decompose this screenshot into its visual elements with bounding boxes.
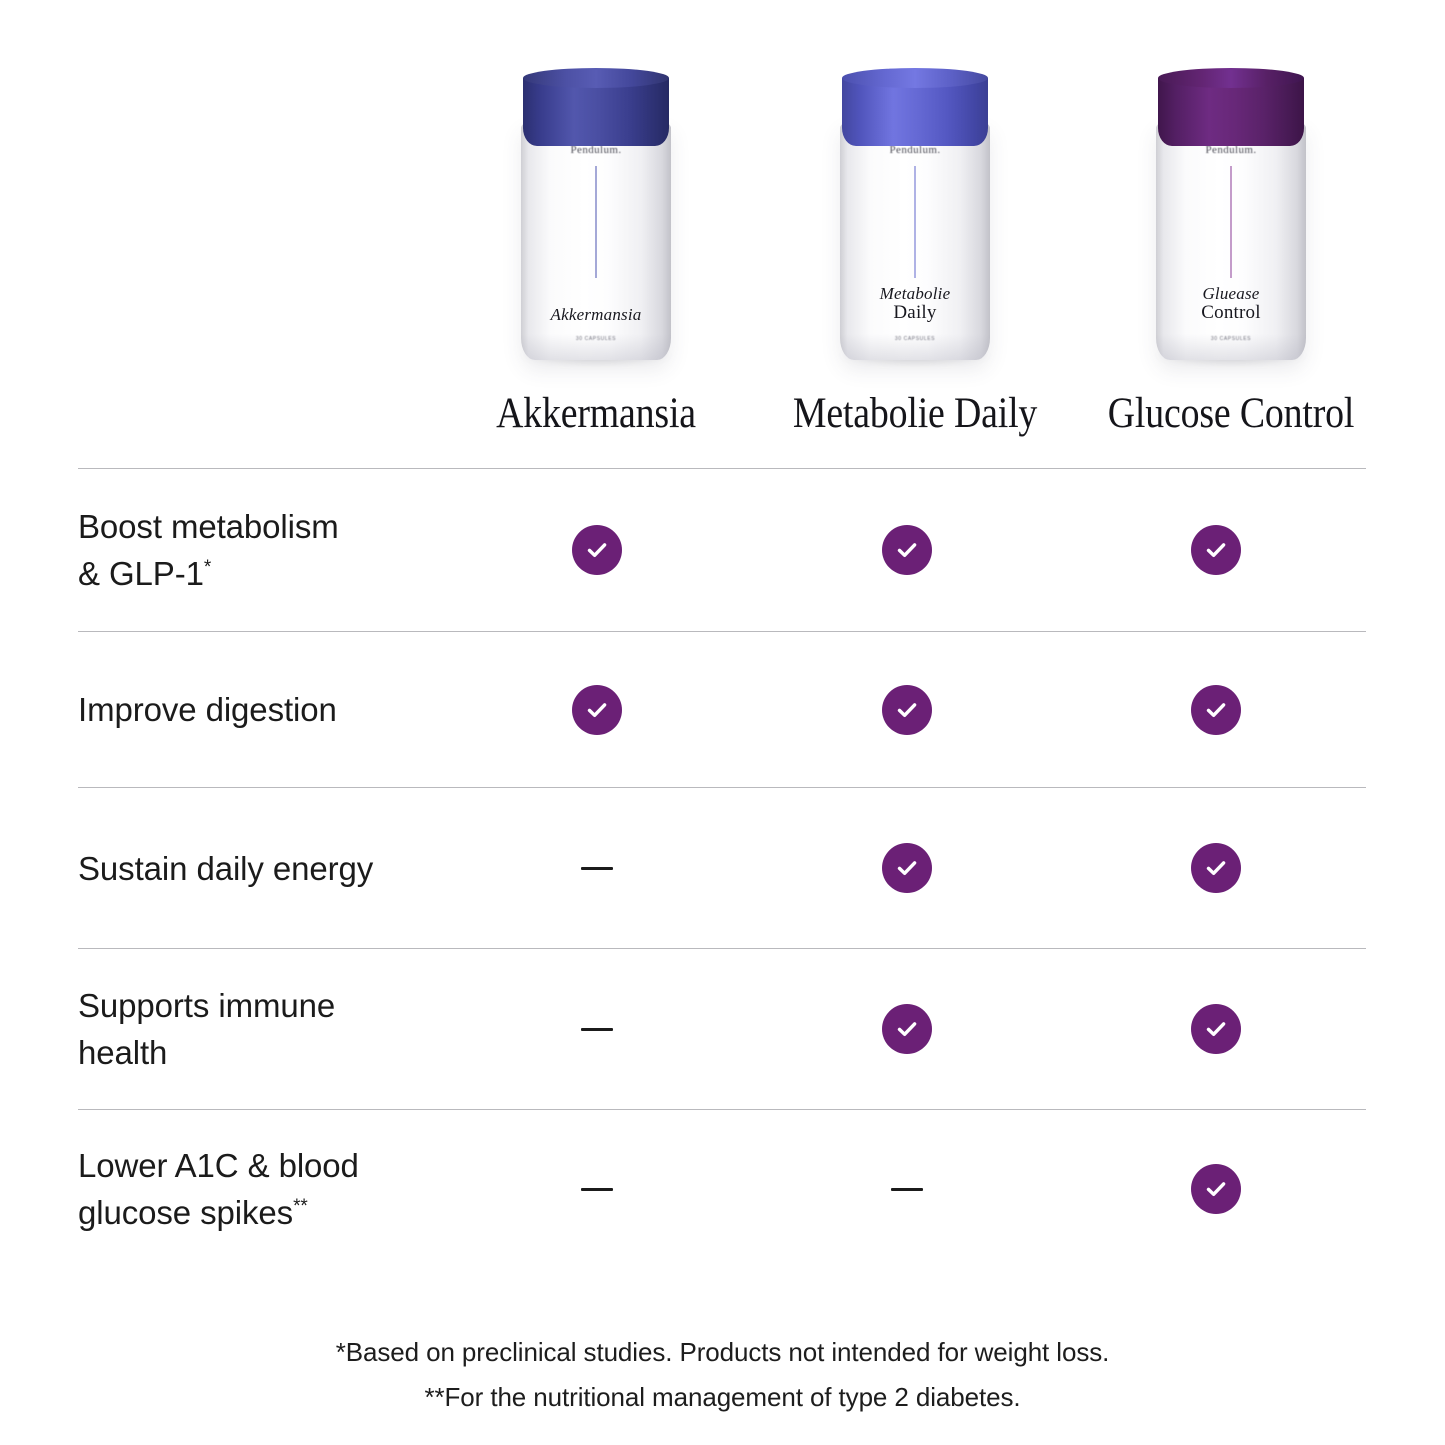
cell-glucose-control (1066, 1164, 1366, 1214)
column-header-akkermansia: Akkermansia (464, 386, 728, 442)
cell-akkermansia (446, 1028, 748, 1031)
row-label-line1: Improve digestion (78, 691, 337, 728)
column-header-metabolic-daily: Metabolie Daily (783, 386, 1047, 442)
row-label-boost-metabolism: Boost metabolism & GLP-1* (78, 503, 446, 597)
row-label-supports-immune-health: Supports immune health (78, 982, 446, 1076)
check-icon (1191, 843, 1241, 893)
jar-rule-line (1231, 166, 1232, 278)
comparison-page: Pendulum. Akkermansia 30 CAPSULES (0, 0, 1445, 1445)
jar-name-roman: Daily (840, 303, 990, 324)
jar-name-italic: Gluease (1156, 285, 1306, 303)
check-icon (1191, 685, 1241, 735)
check-icon (1191, 1164, 1241, 1214)
check-icon (1191, 1004, 1241, 1054)
cell-glucose-control (1066, 843, 1366, 893)
table-row: Sustain daily energy (78, 788, 1366, 948)
row-label-line1: Boost metabolism (78, 508, 339, 545)
product-jar-glucose-control[interactable]: Pendulum. Gluease Control 30 CAPSULES (1081, 60, 1381, 370)
row-label-lower-a1c: Lower A1C & blood glucose spikes** (78, 1142, 446, 1236)
product-jar-akkermansia[interactable]: Pendulum. Akkermansia 30 CAPSULES (446, 60, 746, 370)
check-icon (882, 1004, 932, 1054)
jar-illustration: Pendulum. Gluease Control 30 CAPSULES (1156, 60, 1306, 360)
check-icon (882, 525, 932, 575)
jar-body: Pendulum. Metabolie Daily 30 CAPSULES (840, 122, 990, 360)
cell-akkermansia (446, 1188, 748, 1191)
jar-name-italic: Akkermansia (521, 306, 671, 324)
table-row: Lower A1C & blood glucose spikes** (78, 1110, 1366, 1268)
product-jar-metabolic-daily[interactable]: Pendulum. Metabolie Daily 30 CAPSULES (765, 60, 1065, 370)
comparison-table: Boost metabolism & GLP-1* (78, 468, 1366, 1268)
jar-label: Pendulum. Akkermansia 30 CAPSULES (521, 122, 671, 360)
footnote-2: **For the nutritional management of type… (0, 1375, 1445, 1420)
product-jars-row: Pendulum. Akkermansia 30 CAPSULES (0, 0, 1445, 380)
column-header-glucose-control: Glucose Control (1099, 386, 1363, 442)
column-headers: Akkermansia Metabolie Daily Glucose Cont… (0, 386, 1445, 450)
jar-lid-top (1158, 68, 1304, 88)
jar-lid-side (842, 78, 988, 146)
jar-product-name: Metabolie Daily (840, 285, 990, 324)
jar-lid (523, 68, 669, 146)
table-row: Improve digestion (78, 632, 1366, 787)
dash-icon (581, 1188, 613, 1191)
dash-icon (891, 1188, 923, 1191)
jar-lid (842, 68, 988, 146)
jar-label: Pendulum. Metabolie Daily 30 CAPSULES (840, 122, 990, 360)
row-label-superscript: * (204, 557, 211, 578)
row-label-line2: glucose spikes (78, 1194, 293, 1231)
check-icon (882, 685, 932, 735)
jar-label: Pendulum. Gluease Control 30 CAPSULES (1156, 122, 1306, 360)
jar-name-roman: Control (1156, 303, 1306, 324)
table-row: Supports immune health (78, 949, 1366, 1109)
jar-product-name: Akkermansia (521, 306, 671, 324)
cell-akkermansia (446, 525, 748, 575)
row-label-line1: Lower A1C & blood (78, 1147, 359, 1184)
cell-akkermansia (446, 867, 748, 870)
footnotes: *Based on preclinical studies. Products … (0, 1330, 1445, 1420)
jar-product-name: Gluease Control (1156, 285, 1306, 324)
row-label-line1: Sustain daily energy (78, 850, 373, 887)
check-icon (572, 685, 622, 735)
cell-akkermansia (446, 685, 748, 735)
jar-fineprint: 30 CAPSULES (840, 336, 990, 342)
table-row: Boost metabolism & GLP-1* (78, 469, 1366, 631)
cell-metabolic-daily (748, 685, 1066, 735)
jar-lid-top (523, 68, 669, 88)
cell-glucose-control (1066, 1004, 1366, 1054)
jar-rule-line (596, 166, 597, 278)
jar-illustration: Pendulum. Akkermansia 30 CAPSULES (521, 60, 671, 360)
jar-fineprint: 30 CAPSULES (1156, 336, 1306, 342)
jar-name-italic: Metabolie (840, 285, 990, 303)
cell-glucose-control (1066, 525, 1366, 575)
row-label-line2: & GLP-1 (78, 555, 204, 592)
cell-metabolic-daily (748, 1004, 1066, 1054)
dash-icon (581, 1028, 613, 1031)
check-icon (1191, 525, 1241, 575)
dash-icon (581, 867, 613, 870)
row-label-line1: Supports immune (78, 987, 335, 1024)
footnote-1: *Based on preclinical studies. Products … (0, 1330, 1445, 1375)
row-label-improve-digestion: Improve digestion (78, 686, 446, 733)
row-label-line2: health (78, 1034, 167, 1071)
cell-metabolic-daily (748, 1188, 1066, 1191)
jar-lid (1158, 68, 1304, 146)
check-icon (572, 525, 622, 575)
jar-fineprint: 30 CAPSULES (521, 336, 671, 342)
cell-glucose-control (1066, 685, 1366, 735)
jar-lid-side (523, 78, 669, 146)
cell-metabolic-daily (748, 525, 1066, 575)
jar-body: Pendulum. Gluease Control 30 CAPSULES (1156, 122, 1306, 360)
jar-body: Pendulum. Akkermansia 30 CAPSULES (521, 122, 671, 360)
jar-rule-line (915, 166, 916, 278)
jar-lid-top (842, 68, 988, 88)
jar-illustration: Pendulum. Metabolie Daily 30 CAPSULES (840, 60, 990, 360)
cell-metabolic-daily (748, 843, 1066, 893)
row-label-sustain-daily-energy: Sustain daily energy (78, 845, 446, 892)
row-label-superscript: ** (293, 1196, 308, 1217)
jar-lid-side (1158, 78, 1304, 146)
check-icon (882, 843, 932, 893)
